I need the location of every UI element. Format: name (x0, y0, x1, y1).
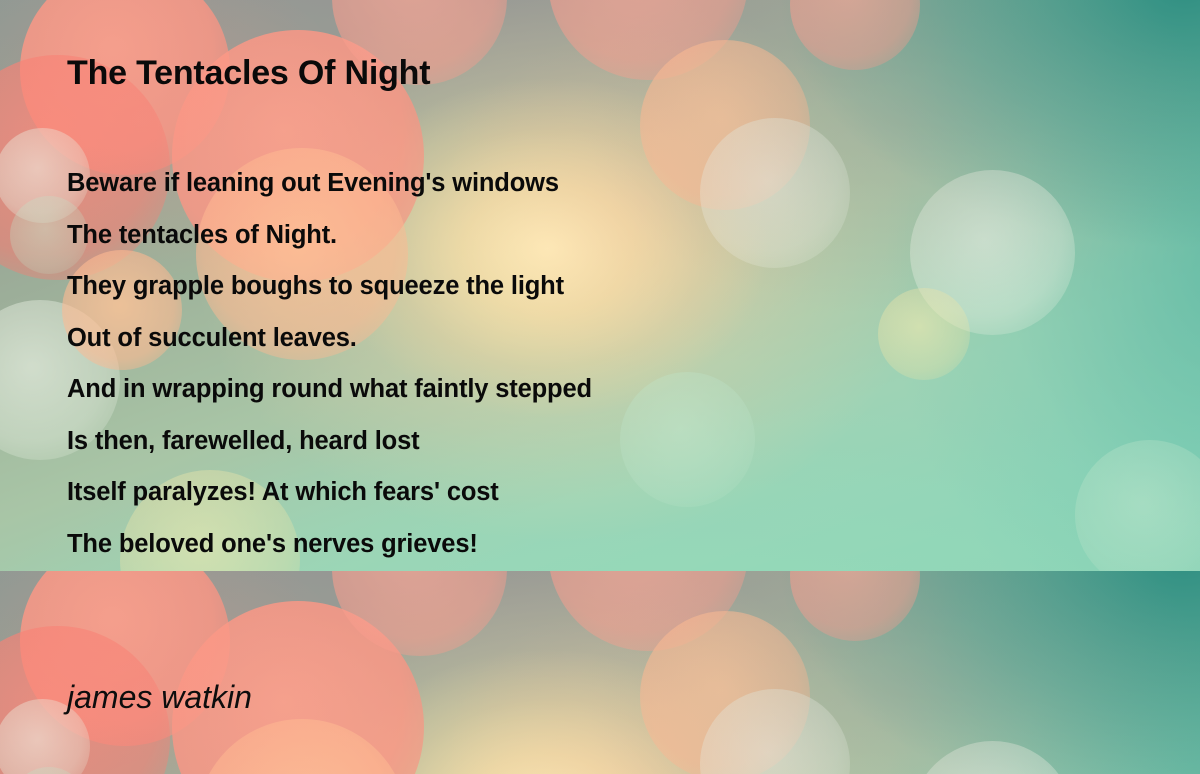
poem-text-content: The Tentacles Of Night Beware if leaning… (0, 0, 1200, 774)
poem-line: Itself paralyzes! At which fears' cost (67, 467, 592, 519)
poem-body: Beware if leaning out Evening's windowsT… (67, 158, 592, 570)
poem-title: The Tentacles Of Night (67, 54, 430, 93)
poem-line: The beloved one's nerves grieves! (67, 519, 592, 571)
poem-line: And in wrapping round what faintly stepp… (67, 364, 592, 416)
poem-line: They grapple boughs to squeeze the light (67, 261, 592, 313)
poem-line: Beware if leaning out Evening's windows (67, 158, 592, 210)
poem-image-card: The Tentacles Of Night Beware if leaning… (0, 0, 1200, 774)
poem-line: Is then, farewelled, heard lost (67, 416, 592, 468)
poem-author-signature: james watkin (67, 679, 252, 716)
poem-line: Out of succulent leaves. (67, 313, 592, 365)
poem-line: The tentacles of Night. (67, 210, 592, 262)
